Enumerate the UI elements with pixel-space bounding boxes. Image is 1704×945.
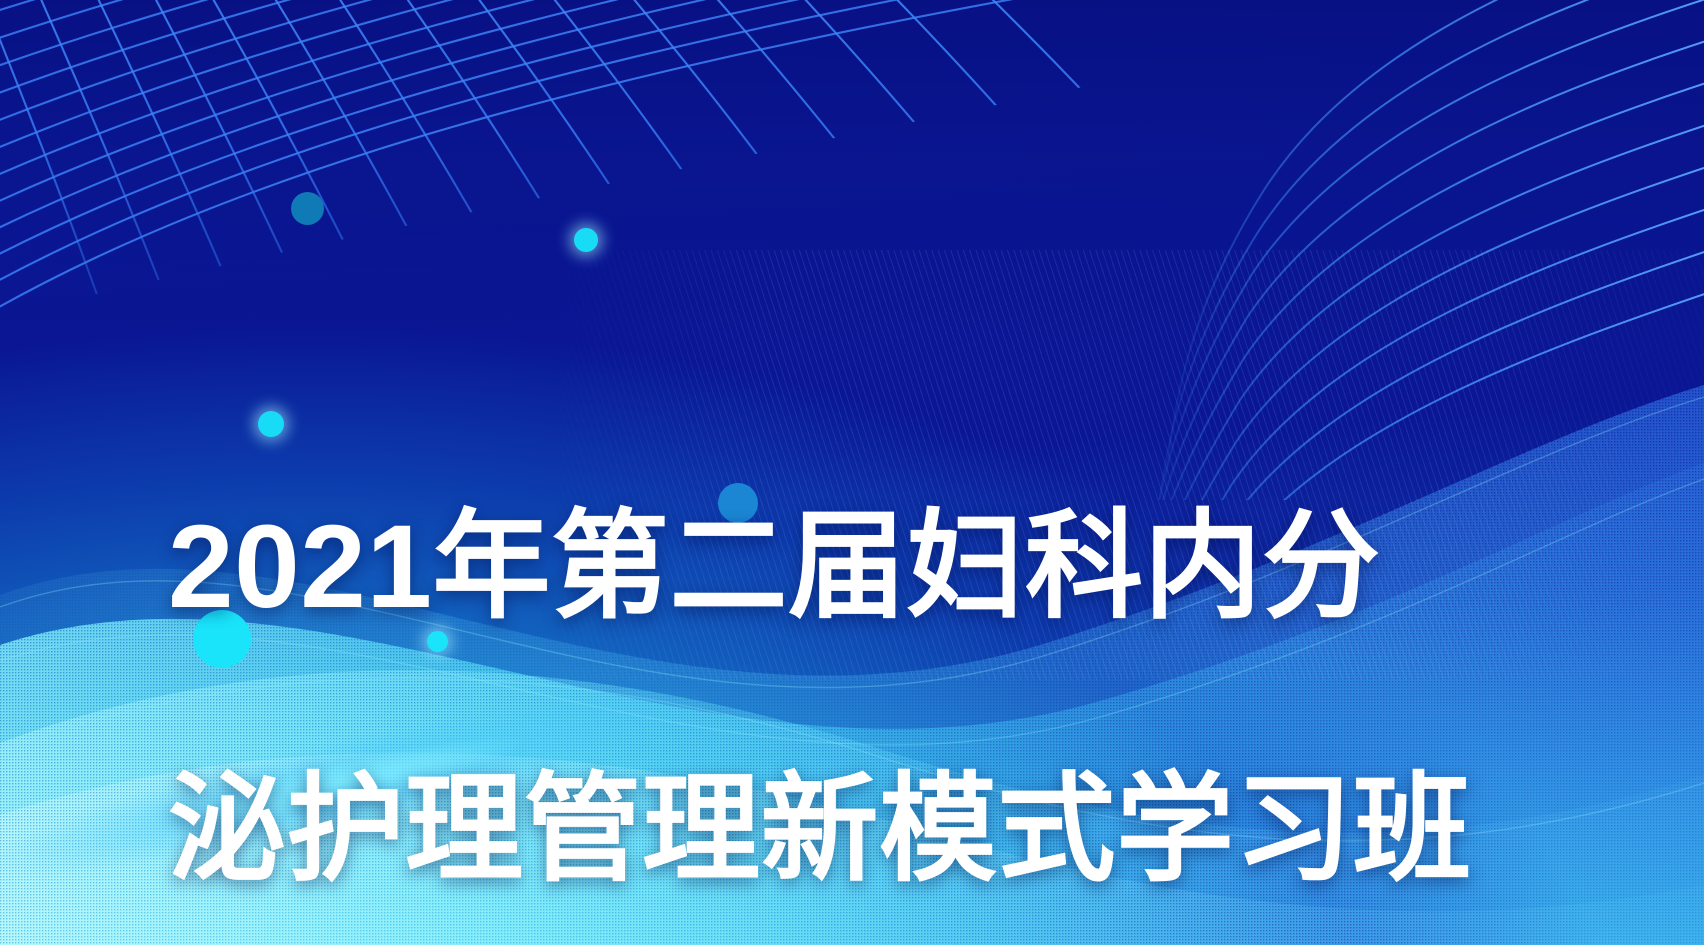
page-title-line-1: 2021年第二届妇科内分 xyxy=(168,500,1568,635)
page-title-line-2: 泌护理管理新模式学习班 xyxy=(168,763,1568,898)
dot-teal-upper-left xyxy=(291,192,324,225)
dot-cyan-upper-mid xyxy=(574,228,598,252)
page-title: 2021年第二届妇科内分 泌护理管理新模式学习班 xyxy=(168,365,1568,945)
poster-canvas: 2021年第二届妇科内分 泌护理管理新模式学习班 xyxy=(0,0,1704,945)
